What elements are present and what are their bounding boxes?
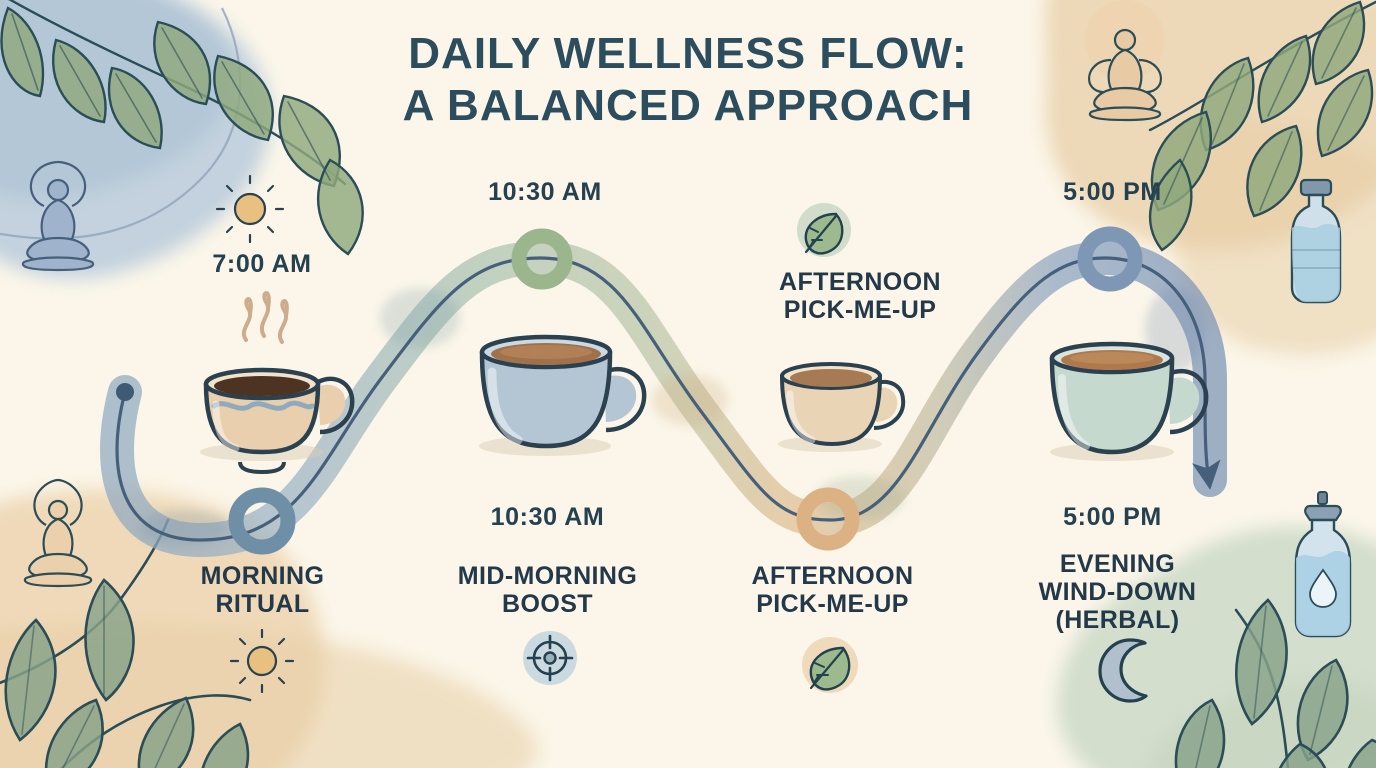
target-icon [523,631,577,685]
label-afternoon-top-line-1: AFTERNOON [735,268,985,296]
time-mid-morning-boost-top: 10:30 AM [440,178,650,207]
label-afternoon-pick-me-up-top: AFTERNOON PICK-ME-UP [735,268,985,324]
time-mid-morning-boost-bottom: 10:30 AM [445,503,650,532]
label-mid-morning-line-1: MID-MORNING [430,562,665,590]
moon-icon [1100,640,1146,701]
label-evening-line-2: WIND-DOWN [1000,578,1235,606]
label-evening-line-3: (HERBAL) [1000,606,1235,634]
label-evening-line-1: EVENING [1000,550,1235,578]
time-evening-wind-down-bottom: 5:00 PM [1010,503,1215,532]
label-morning-line-1: MORNING [150,562,375,590]
infographic-canvas: DAILY WELLNESS FLOW: A BALANCED APPROACH… [0,0,1376,768]
time-morning-ritual-top: 7:00 AM [162,250,362,279]
label-mid-morning-line-2: BOOST [430,590,665,618]
sun-icon-top [217,176,283,242]
leaf-icon-bottom [802,637,858,693]
time-evening-wind-down-top: 5:00 PM [1005,178,1220,207]
leaf-icon-top [797,203,851,257]
label-afternoon-line-1: AFTERNOON [715,562,950,590]
sun-icon-bottom [231,630,293,692]
label-morning-ritual: MORNING RITUAL [150,562,375,618]
label-evening-wind-down: EVENING WIND-DOWN (HERBAL) [1000,550,1235,634]
label-afternoon-top-line-2: PICK-ME-UP [735,296,985,324]
page-title: DAILY WELLNESS FLOW: A BALANCED APPROACH [0,28,1376,132]
label-morning-line-2: RITUAL [150,590,375,618]
label-afternoon-pick-me-up: AFTERNOON PICK-ME-UP [715,562,950,618]
title-line-2: A BALANCED APPROACH [0,80,1376,132]
label-afternoon-line-2: PICK-ME-UP [715,590,950,618]
label-mid-morning-boost: MID-MORNING BOOST [430,562,665,618]
title-line-1: DAILY WELLNESS FLOW: [408,29,967,78]
